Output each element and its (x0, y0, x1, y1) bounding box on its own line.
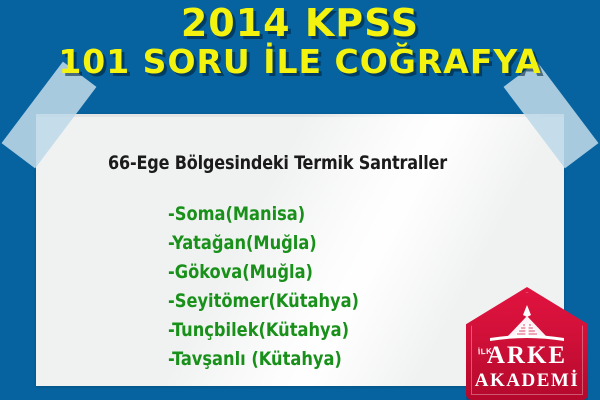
poster-canvas: 2014 KPSS 101 SORU İLE COĞRAFYA 66-Ege B… (0, 0, 600, 400)
logo-tent-icon (484, 303, 570, 345)
arke-akademi-logo: İLK ARKE AKADEMİ (466, 287, 588, 400)
poster-title: 2014 KPSS 101 SORU İLE COĞRAFYA (0, 4, 600, 78)
list-item: -Soma(Manisa) (168, 200, 359, 229)
logo-subtitle-text: AKADEMİ (466, 370, 588, 391)
list-item: -Tunçbilek(Kütahya) (168, 316, 359, 345)
logo-wordmark: ARKE AKADEMİ (466, 343, 588, 391)
power-plant-list: -Soma(Manisa) -Yatağan(Muğla) -Gökova(Mu… (168, 200, 369, 374)
logo-name-text: ARKE (466, 343, 588, 369)
list-item: -Gökova(Muğla) (168, 258, 359, 287)
title-line-secondary: 101 SORU İLE COĞRAFYA (0, 45, 600, 79)
list-item: -Seyitömer(Kütahya) (168, 287, 359, 316)
question-heading: 66-Ege Bölgesindeki Termik Santraller (108, 152, 447, 174)
list-item: -Yatağan(Muğla) (168, 229, 359, 258)
title-line-primary: 2014 KPSS (0, 4, 600, 43)
list-item: -Tavşanlı (Kütahya) (168, 345, 359, 374)
